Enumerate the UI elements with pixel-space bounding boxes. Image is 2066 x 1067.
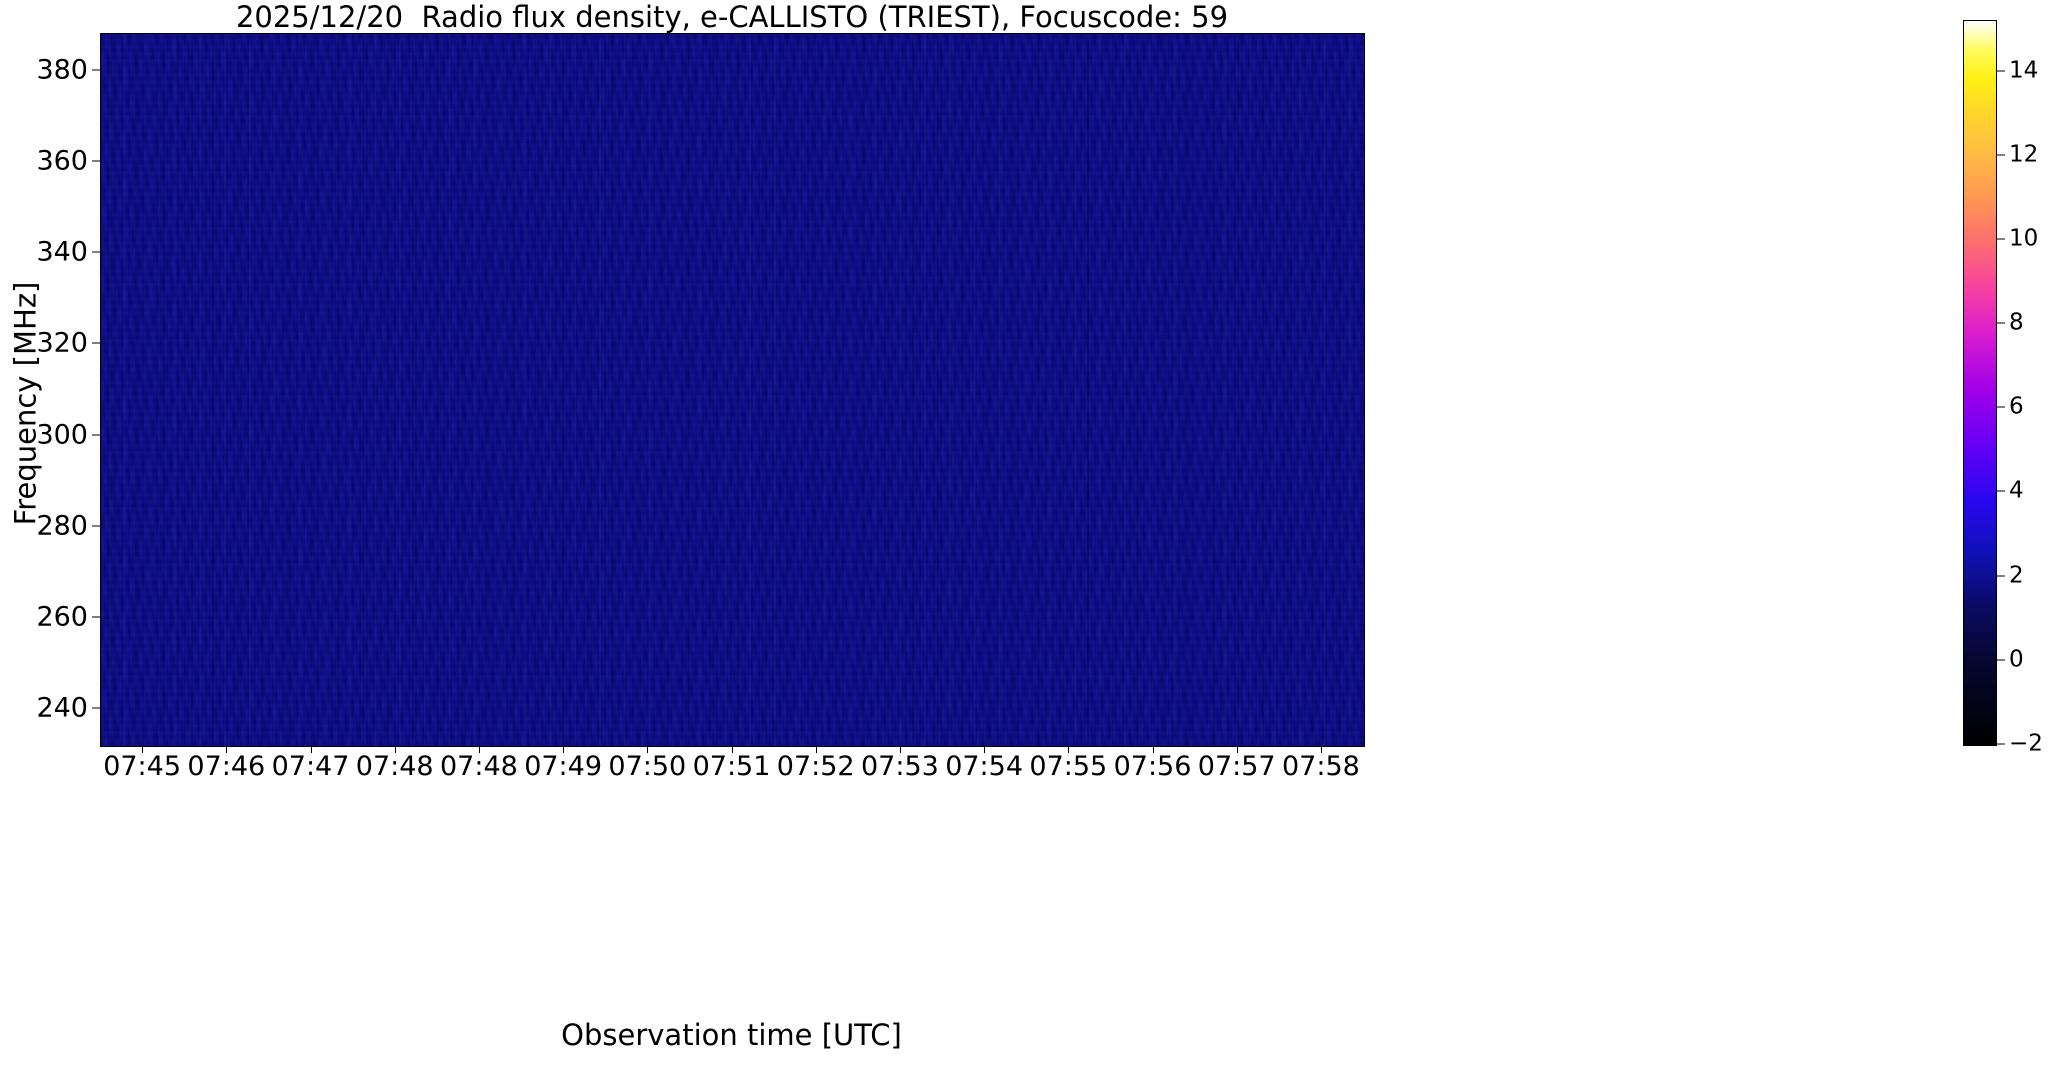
x-axis-tick-mark — [563, 745, 564, 753]
y-axis-tick-label: 300 — [36, 421, 88, 448]
noise-texture-layer-b — [101, 34, 1364, 746]
x-axis-tick-mark — [479, 745, 480, 753]
x-axis-tick-label: 07:48 — [440, 752, 518, 782]
x-axis-tick-label: 07:48 — [356, 752, 434, 782]
x-axis-tick-mark — [395, 745, 396, 753]
colorbar-tick-label: 6 — [2009, 396, 2024, 419]
colorbar-tick-mark — [1997, 491, 2005, 492]
y-axis-tick-mark — [92, 343, 100, 344]
y-axis-tick-label: 320 — [36, 330, 88, 357]
colorbar-tick-mark — [1997, 323, 2005, 324]
figure-canvas: 2025/12/20 Radio flux density, e-CALLIST… — [0, 0, 2066, 1067]
y-axis-tick-label: 360 — [36, 147, 88, 174]
x-axis-label: Observation time [UTC] — [100, 1019, 1363, 1051]
colorbar-tick-mark — [1997, 575, 2005, 576]
x-axis-tick-label: 07:49 — [524, 752, 602, 782]
colorbar-tick-label: 4 — [2009, 480, 2024, 503]
x-axis-tick-label: 07:53 — [861, 752, 939, 782]
x-axis-tick-label: 07:52 — [777, 752, 855, 782]
colorbar-tick-label: 12 — [2009, 143, 2038, 166]
x-axis-tick-label: 07:57 — [1198, 752, 1276, 782]
colorbar-tick-mark — [1997, 407, 2005, 408]
x-axis-tick-mark — [984, 745, 985, 753]
x-axis-tick-mark — [732, 745, 733, 753]
x-axis-tick-label: 07:46 — [187, 752, 265, 782]
colorbar-tick-label: 10 — [2009, 227, 2038, 250]
x-axis-tick-mark — [1237, 745, 1238, 753]
y-axis-tick-label: 240 — [36, 695, 88, 722]
y-axis-tick-mark — [92, 434, 100, 435]
y-axis-label: Frequency [MHz] — [12, 48, 41, 760]
y-axis-tick-label: 380 — [36, 56, 88, 83]
x-axis-tick-mark — [142, 745, 143, 753]
colorbar-tick-mark — [1997, 659, 2005, 660]
colorbar-tick-label: 8 — [2009, 312, 2024, 335]
y-axis-tick-label: 260 — [36, 604, 88, 631]
x-axis-tick-label: 07:58 — [1282, 752, 1360, 782]
colorbar-tick-label: 14 — [2009, 59, 2038, 82]
colorbar-tick-mark — [1997, 70, 2005, 71]
page-title: 2025/12/20 Radio flux density, e-CALLIST… — [100, 2, 1364, 32]
x-axis-tick-label: 07:51 — [693, 752, 771, 782]
x-axis-tick-label: 07:54 — [945, 752, 1023, 782]
x-axis-tick-label: 07:45 — [103, 752, 181, 782]
x-axis-tick-mark — [226, 745, 227, 753]
y-axis-tick-label: 280 — [36, 512, 88, 539]
colorbar-tick-mark — [1997, 238, 2005, 239]
colorbar-tick-label: −2 — [2009, 733, 2043, 756]
x-axis-tick-group: 07:4507:4607:4707:4807:4807:4907:5007:51… — [100, 752, 1363, 792]
y-axis-tick-mark — [92, 525, 100, 526]
y-axis-tick-mark — [92, 69, 100, 70]
spectrogram-image — [101, 34, 1364, 746]
y-axis-tick-label: 340 — [36, 239, 88, 266]
noise-texture-layer-a — [101, 34, 1364, 746]
colorbar-gradient — [1963, 20, 1997, 746]
x-axis-tick-mark — [900, 745, 901, 753]
colorbar-tick-mark — [1997, 744, 2005, 745]
colorbar-tick-mark — [1997, 154, 2005, 155]
x-axis-tick-mark — [816, 745, 817, 753]
x-axis-tick-label: 07:47 — [272, 752, 350, 782]
x-axis-tick-mark — [1321, 745, 1322, 753]
colorbar[interactable]: −202468101214 — [1963, 20, 1997, 746]
x-axis-tick-mark — [311, 745, 312, 753]
y-axis-tick-mark — [92, 617, 100, 618]
x-axis-tick-mark — [1068, 745, 1069, 753]
y-axis-tick-mark — [92, 160, 100, 161]
noise-texture-layer-c — [101, 34, 1364, 746]
x-axis-tick-mark — [647, 745, 648, 753]
x-axis-tick-label: 07:50 — [608, 752, 686, 782]
x-axis-tick-label: 07:55 — [1029, 752, 1107, 782]
y-axis-tick-mark — [92, 252, 100, 253]
colorbar-tick-label: 2 — [2009, 564, 2024, 587]
x-axis-tick-mark — [1153, 745, 1154, 753]
x-axis-tick-label: 07:56 — [1114, 752, 1192, 782]
colorbar-tick-label: 0 — [2009, 648, 2024, 671]
spectrogram-axes[interactable] — [100, 33, 1365, 747]
y-axis-tick-mark — [92, 708, 100, 709]
